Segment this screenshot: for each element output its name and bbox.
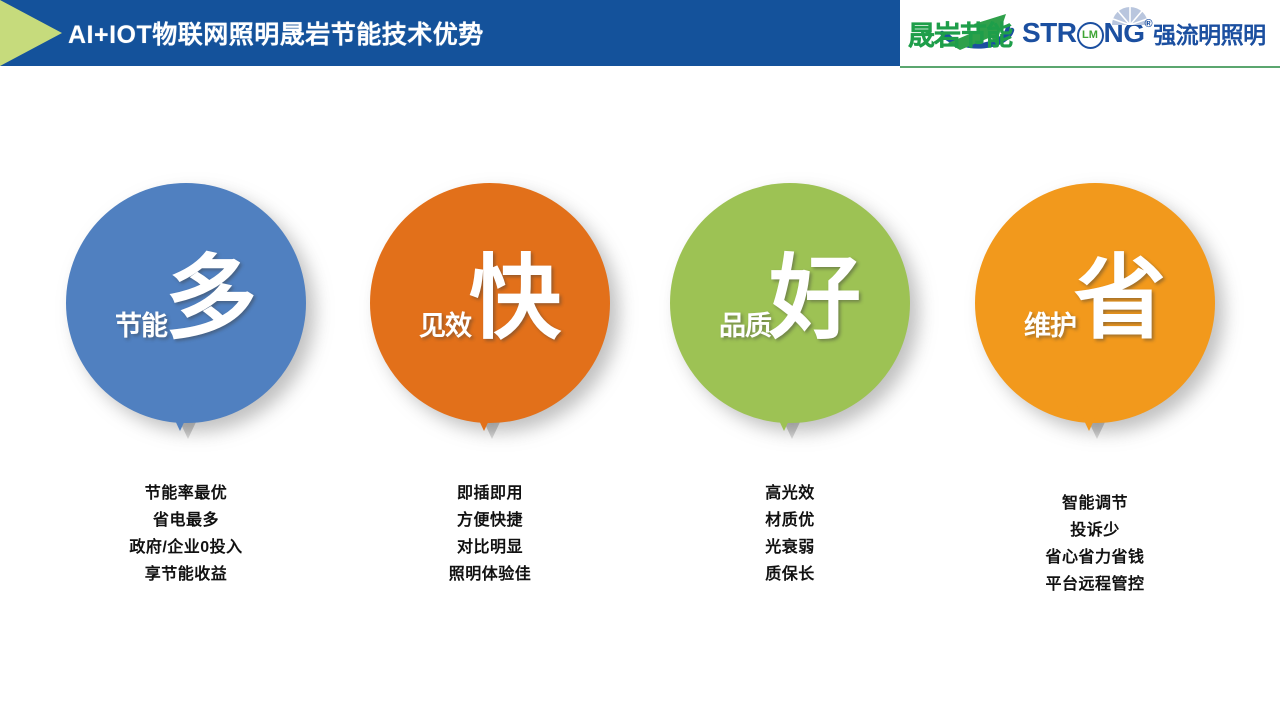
- advantage-card-1: 节能 多: [66, 183, 306, 445]
- bubble-keyword: 好: [769, 257, 859, 342]
- bullet-item: 照明体验佳: [340, 561, 640, 588]
- bullet-item: 对比明显: [340, 534, 640, 561]
- bubble-label-4: 维护 省: [975, 183, 1215, 423]
- logo-shengyan-text: 晟岩节能: [908, 14, 1012, 53]
- bubble-keyword: 省: [1074, 257, 1164, 342]
- bubble-label-1: 节能 多: [66, 183, 306, 423]
- speech-bubble-2: 见效 快: [370, 183, 610, 423]
- bullet-item: 质保长: [640, 561, 940, 588]
- bubble-keyword: 快: [469, 257, 559, 342]
- bubble-subtitle: 品质: [719, 304, 771, 343]
- bullet-item: 享节能收益: [36, 561, 336, 588]
- bubble-subtitle: 维护: [1024, 304, 1076, 343]
- bullet-item: 平台远程管控: [945, 571, 1245, 598]
- speech-bubble-4: 维护 省: [975, 183, 1215, 423]
- bullet-item: 政府/企业0投入: [36, 534, 336, 561]
- bullet-item: 节能率最优: [36, 480, 336, 507]
- advantage-bullets-1: 节能率最优 省电最多 政府/企业0投入 享节能收益: [36, 480, 336, 588]
- bullet-item: 高光效: [640, 480, 940, 507]
- bullet-item: 材质优: [640, 507, 940, 534]
- bullet-item: 即插即用: [340, 480, 640, 507]
- bubble-label-3: 品质 好: [670, 183, 910, 423]
- bullet-item: 省心省力省钱: [945, 544, 1245, 571]
- bubble-label-2: 见效 快: [370, 183, 610, 423]
- advantage-card-3: 品质 好: [670, 183, 910, 445]
- bubble-keyword: 多: [165, 257, 255, 342]
- advantage-card-4: 维护 省: [975, 183, 1215, 445]
- speech-bubble-3: 品质 好: [670, 183, 910, 423]
- bullet-item: 投诉少: [945, 517, 1245, 544]
- logo-shengyan: 晟岩节能: [908, 8, 1012, 58]
- speech-bubble-1: 节能 多: [66, 183, 306, 423]
- bubble-subtitle: 节能: [115, 304, 167, 343]
- bullet-item: 光衰弱: [640, 534, 940, 561]
- bubble-subtitle: 见效: [419, 304, 471, 343]
- advantages-section: 节能 多 节能率最优 省电最多 政府/企业0投入 享节能收益 见效 快 即插即用…: [0, 0, 1280, 720]
- advantage-card-2: 见效 快: [370, 183, 610, 445]
- bullet-item: 省电最多: [36, 507, 336, 534]
- advantage-bullets-4: 智能调节 投诉少 省心省力省钱 平台远程管控: [945, 490, 1245, 598]
- advantage-bullets-2: 即插即用 方便快捷 对比明显 照明体验佳: [340, 480, 640, 588]
- bullet-item: 方便快捷: [340, 507, 640, 534]
- advantage-bullets-3: 高光效 材质优 光衰弱 质保长: [640, 480, 940, 588]
- bullet-item: 智能调节: [945, 490, 1245, 517]
